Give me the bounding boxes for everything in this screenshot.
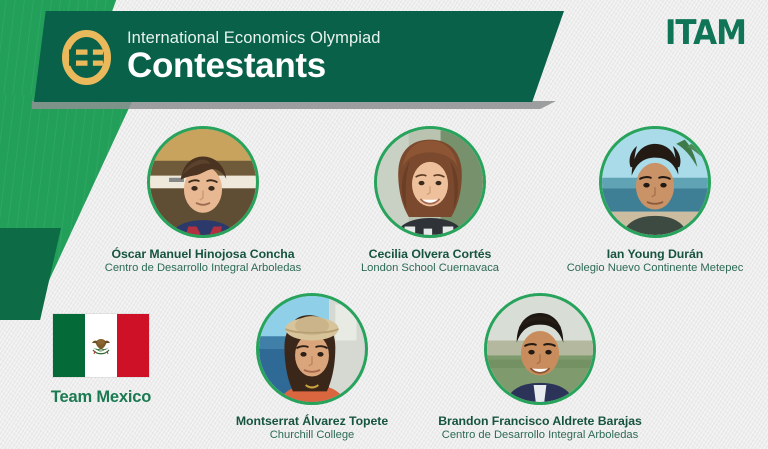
ieo-circle-logo-icon: [60, 29, 113, 86]
contestant-card: Brandon Francisco Aldrete Barajas Centro…: [420, 293, 660, 441]
contestant-name: Montserrat Álvarez Topete: [192, 414, 432, 428]
contestant-photo-montserrat-icon: [259, 296, 365, 402]
avatar: [147, 126, 259, 238]
contestant-school: Colegio Nuevo Continente Metepec: [535, 262, 768, 274]
contestant-name: Brandon Francisco Aldrete Barajas: [420, 414, 660, 428]
team-label: Team Mexico: [28, 388, 174, 407]
contestant-card: Ian Young Durán Colegio Nuevo Continente…: [535, 126, 768, 274]
header-banner: International Economics Olympiad Contest…: [34, 11, 564, 102]
flag-band-white: [85, 314, 117, 377]
contestant-name: Ian Young Durán: [535, 247, 768, 261]
flag-emblem-icon: [88, 333, 114, 359]
contestant-card: Montserrat Álvarez Topete Churchill Coll…: [192, 293, 432, 441]
page-title: Contestants: [127, 48, 381, 83]
itam-logo: ITAM: [665, 14, 746, 53]
header-subtitle: International Economics Olympiad: [127, 30, 381, 47]
contestant-school: Churchill College: [192, 429, 432, 441]
poster-canvas: International Economics Olympiad Contest…: [0, 0, 768, 449]
avatar: [484, 293, 596, 405]
contestant-photo-brandon-icon: [487, 296, 593, 402]
flag-band-green: [53, 314, 85, 377]
contestant-school: Centro de Desarrollo Integral Arboledas: [83, 262, 323, 274]
contestant-card: Cecilia Olvera Cortés London School Cuer…: [310, 126, 550, 274]
contestant-name: Cecilia Olvera Cortés: [310, 247, 550, 261]
contestant-school: London School Cuernavaca: [310, 262, 550, 274]
mexico-flag-icon: [53, 314, 149, 377]
contestant-photo-oscar-icon: [150, 129, 256, 235]
contestant-card: Óscar Manuel Hinojosa Concha Centro de D…: [83, 126, 323, 274]
banner-shadow: [32, 101, 556, 109]
contestant-name: Óscar Manuel Hinojosa Concha: [83, 247, 323, 261]
contestant-photo-cecilia-icon: [377, 129, 483, 235]
team-block: Team Mexico: [28, 314, 174, 407]
avatar: [374, 126, 486, 238]
contestant-photo-ian-icon: [602, 129, 708, 235]
flag-band-red: [117, 314, 149, 377]
avatar: [256, 293, 368, 405]
avatar: [599, 126, 711, 238]
contestant-school: Centro de Desarrollo Integral Arboledas: [420, 429, 660, 441]
